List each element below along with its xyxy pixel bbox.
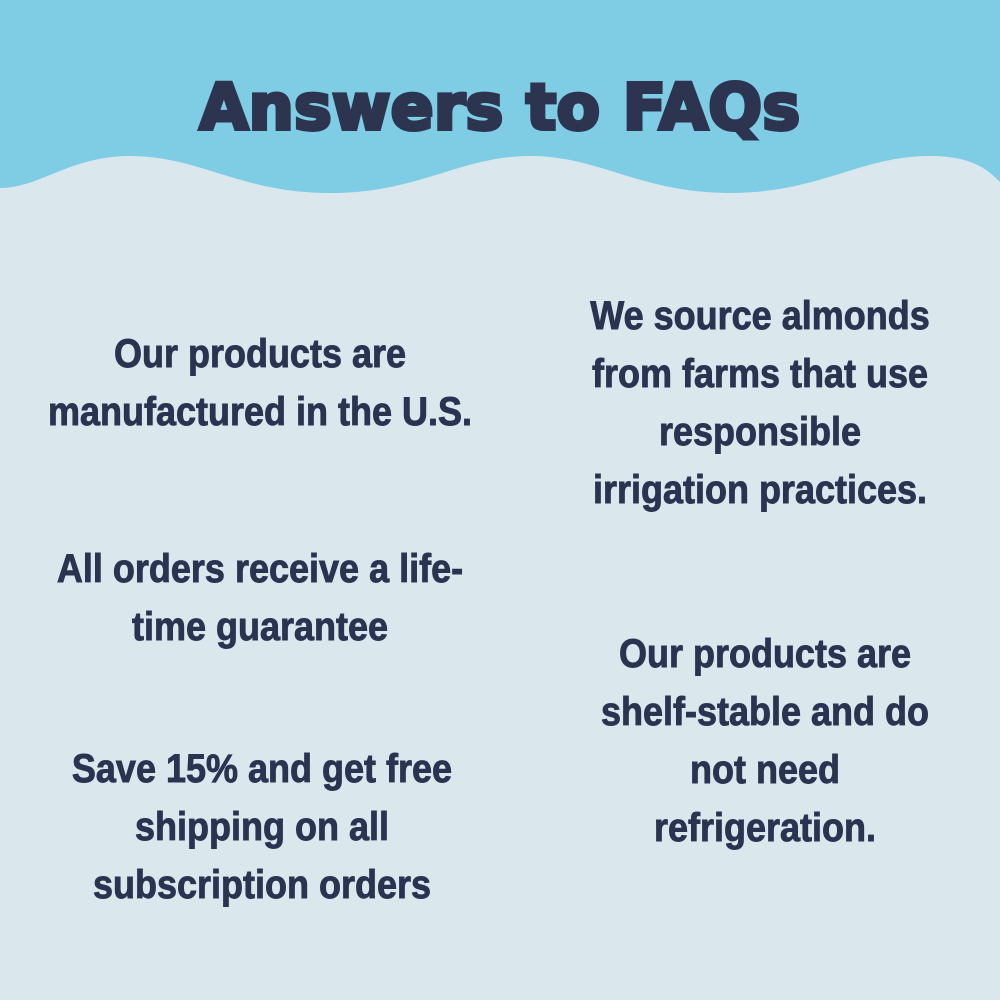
faq-item-responsible-sourcing: We source almonds from farms that use re… (580, 287, 940, 519)
faq-item-subscription-savings: Save 15% and get free shipping on all su… (37, 740, 487, 914)
faq-item-lifetime-guarantee: All orders receive a life-time guarantee (44, 540, 476, 656)
faq-poster: Answers to FAQs Our products are manufac… (0, 0, 1000, 1000)
faq-item-shelf-stable: Our products are shelf-stable and do not… (585, 625, 945, 857)
wave-divider-icon (0, 140, 1000, 210)
page-title: Answers to FAQs (0, 76, 1000, 139)
faq-item-manufactured-in-us: Our products are manufactured in the U.S… (44, 325, 476, 441)
